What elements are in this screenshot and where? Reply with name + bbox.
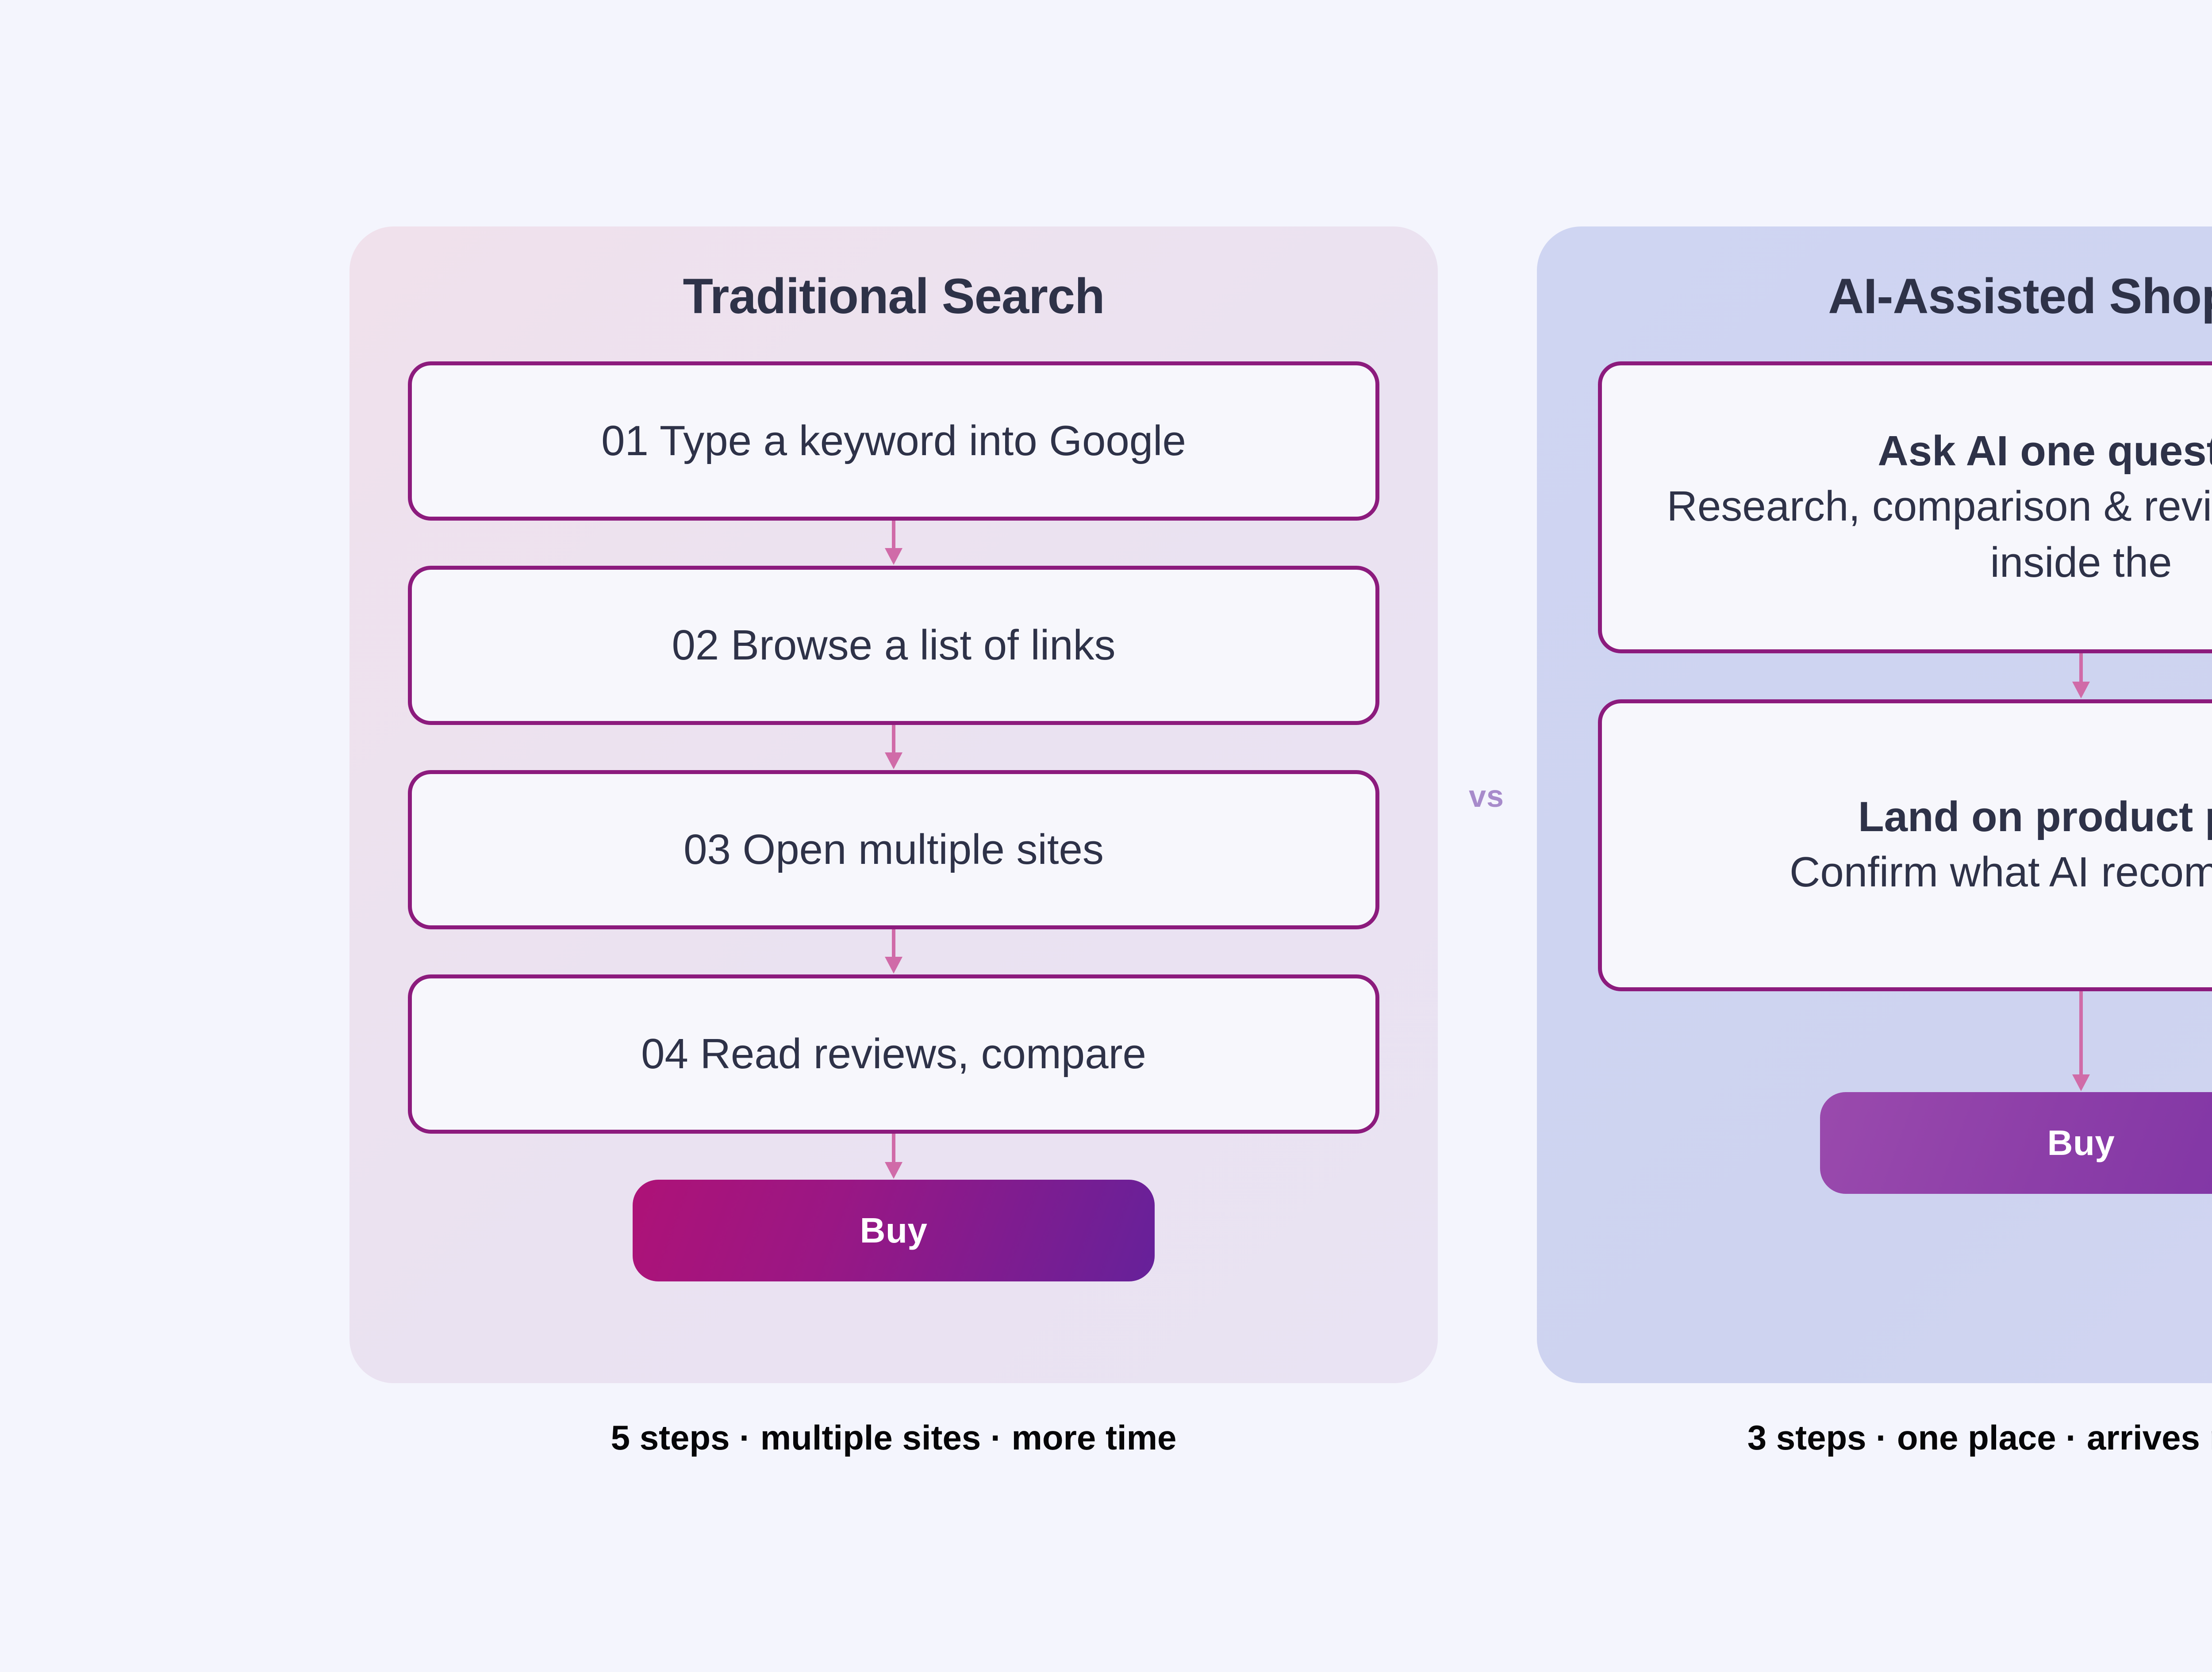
step-label-02: 02 Browse a list of links xyxy=(672,619,1115,672)
page-title-ai-assisted: AI-Assisted Shopping xyxy=(1828,269,2212,323)
arrow-down-icon xyxy=(2068,653,2094,699)
comparison-diagram: Traditional Search 01 Type a keyword int… xyxy=(0,0,2212,1672)
arrow-down-icon xyxy=(880,1134,907,1180)
arrow-down-icon xyxy=(880,929,907,974)
step-label-03: 03 Open multiple sites xyxy=(684,823,1104,876)
compare-row: Traditional Search 01 Type a keyword int… xyxy=(0,0,2212,1672)
ai-card-ask-ai[interactable]: Ask AI one question Research, comparison… xyxy=(1598,361,2212,653)
arrow-down-icon xyxy=(880,725,907,770)
ai-flow-arrow-2 xyxy=(2068,991,2094,1092)
flow-arrow-4 xyxy=(880,1134,907,1180)
step-box-03[interactable]: 03 Open multiple sites xyxy=(408,770,1379,929)
traditional-search-panel: Traditional Search 01 Type a keyword int… xyxy=(349,226,1438,1383)
vs-separator-label: vs xyxy=(1436,778,1537,814)
arrow-down-icon xyxy=(880,521,907,566)
ai-assisted-shopping-panel: AI-Assisted Shopping Ask AI one question… xyxy=(1537,226,2212,1383)
flow-arrow-2 xyxy=(880,725,907,770)
ai-flow: Ask AI one question Research, comparison… xyxy=(1595,361,2212,1194)
step-box-01[interactable]: 01 Type a keyword into Google xyxy=(408,361,1379,521)
ai-card-body-2: Confirm what AI recommended xyxy=(1790,844,2212,901)
ai-card-title-1: Ask AI one question xyxy=(1878,424,2212,479)
traditional-flow: 01 Type a keyword into Google 02 Browse … xyxy=(408,361,1379,1281)
step-label-04: 04 Read reviews, compare xyxy=(641,1028,1146,1081)
step-label-01: 01 Type a keyword into Google xyxy=(601,414,1186,468)
flow-arrow-1 xyxy=(880,521,907,566)
ai-card-title-2: Land on product page xyxy=(1858,790,2212,844)
caption-ai-assisted: 3 steps · one place · arrives ready to b… xyxy=(1537,1418,2212,1458)
buy-button-traditional[interactable]: Buy xyxy=(633,1180,1155,1281)
ai-flow-arrow-1 xyxy=(2068,653,2094,699)
step-box-02[interactable]: 02 Browse a list of links xyxy=(408,566,1379,725)
ai-card-body-1: Research, comparison & reviews all happe… xyxy=(1639,479,2212,591)
caption-traditional: 5 steps · multiple sites · more time xyxy=(349,1418,1438,1458)
page-title-traditional: Traditional Search xyxy=(683,269,1105,323)
arrow-down-icon xyxy=(2068,991,2094,1092)
step-box-04[interactable]: 04 Read reviews, compare xyxy=(408,974,1379,1134)
ai-card-land-product[interactable]: Land on product page Confirm what AI rec… xyxy=(1598,699,2212,991)
buy-button-ai-assisted[interactable]: Buy xyxy=(1820,1092,2212,1194)
flow-arrow-3 xyxy=(880,929,907,974)
